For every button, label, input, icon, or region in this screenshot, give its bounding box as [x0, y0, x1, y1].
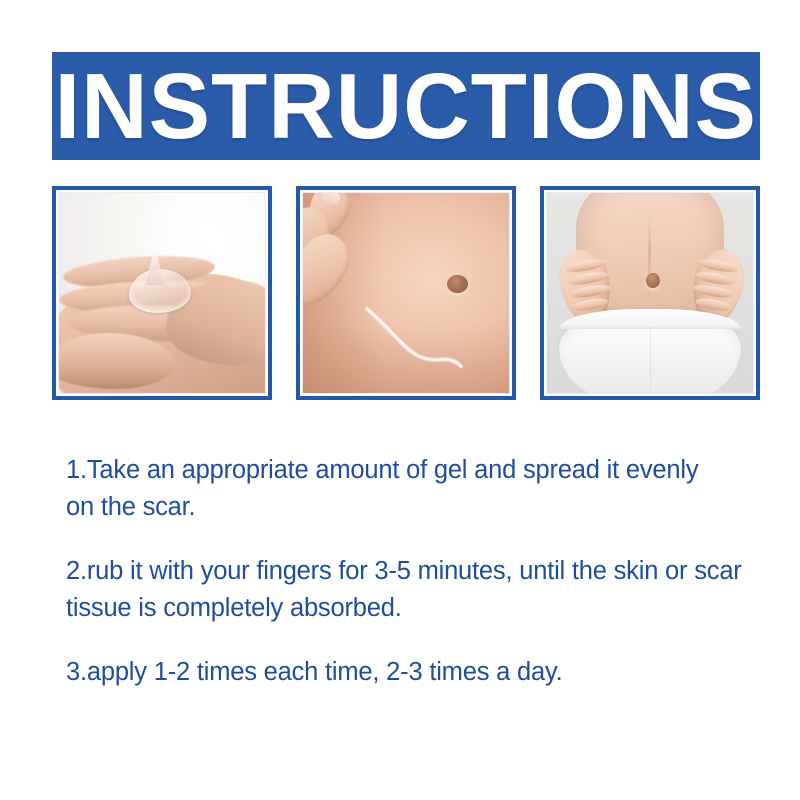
- scar-gel-line: [365, 305, 464, 373]
- finger-shape: [570, 283, 613, 300]
- applying-hand: [302, 192, 373, 309]
- instructions-banner: INSTRUCTIONS: [52, 52, 760, 160]
- instruction-step-1: 1.Take an appropriate amount of gel and …: [66, 452, 730, 526]
- instruction-step-3: 3.apply 1-2 times each time, 2-3 times a…: [66, 654, 726, 691]
- photo-row: [52, 186, 760, 400]
- photo-result-torso: [546, 192, 754, 394]
- navel: [447, 275, 468, 293]
- finger-shape: [692, 283, 735, 300]
- finger-shape: [696, 296, 733, 312]
- page-title: INSTRUCTIONS: [55, 60, 757, 153]
- photo-frame-apply-to-scar: [296, 186, 516, 400]
- instruction-steps: 1.Take an appropriate amount of gel and …: [66, 452, 766, 691]
- photo-gel-in-palm: [58, 192, 266, 394]
- photo-apply-to-scar: [302, 192, 510, 394]
- instruction-page: INSTRUCTIONS: [0, 0, 800, 800]
- instruction-step-2: 2.rub it with your fingers for 3-5 minut…: [66, 553, 756, 627]
- photo-frame-gel-in-palm: [52, 186, 272, 400]
- photo-frame-result-torso: [540, 186, 760, 400]
- underwear-center-seam: [650, 326, 651, 390]
- white-underwear: [559, 309, 740, 394]
